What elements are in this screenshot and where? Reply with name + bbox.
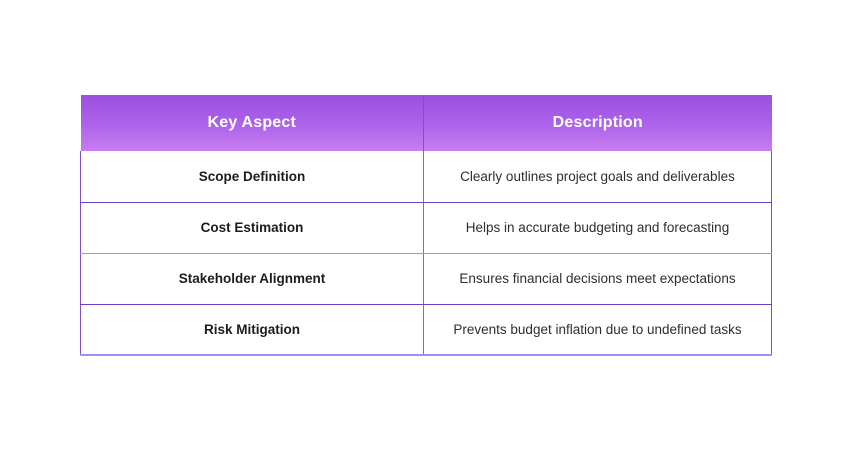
table-header: Key Aspect Description bbox=[81, 95, 772, 151]
table-body: Scope Definition Clearly outlines projec… bbox=[81, 151, 772, 355]
table-row: Risk Mitigation Prevents budget inflatio… bbox=[81, 304, 772, 355]
cell-description: Prevents budget inflation due to undefin… bbox=[424, 304, 772, 355]
key-aspect-description-table: Key Aspect Description Scope Definition … bbox=[80, 95, 772, 356]
table-row: Stakeholder Alignment Ensures financial … bbox=[81, 253, 772, 304]
cell-key-aspect: Stakeholder Alignment bbox=[81, 253, 424, 304]
table-row: Scope Definition Clearly outlines projec… bbox=[81, 151, 772, 202]
table-header-row: Key Aspect Description bbox=[81, 95, 772, 151]
cell-key-aspect: Cost Estimation bbox=[81, 202, 424, 253]
column-header-key-aspect: Key Aspect bbox=[81, 95, 424, 151]
column-header-description: Description bbox=[424, 95, 772, 151]
cell-description: Helps in accurate budgeting and forecast… bbox=[424, 202, 772, 253]
cell-description: Ensures financial decisions meet expecta… bbox=[424, 253, 772, 304]
cell-key-aspect: Scope Definition bbox=[81, 151, 424, 202]
aspect-table-container: Key Aspect Description Scope Definition … bbox=[80, 95, 771, 356]
cell-key-aspect: Risk Mitigation bbox=[81, 304, 424, 355]
cell-description: Clearly outlines project goals and deliv… bbox=[424, 151, 772, 202]
page-canvas: Key Aspect Description Scope Definition … bbox=[0, 0, 850, 450]
table-row: Cost Estimation Helps in accurate budget… bbox=[81, 202, 772, 253]
